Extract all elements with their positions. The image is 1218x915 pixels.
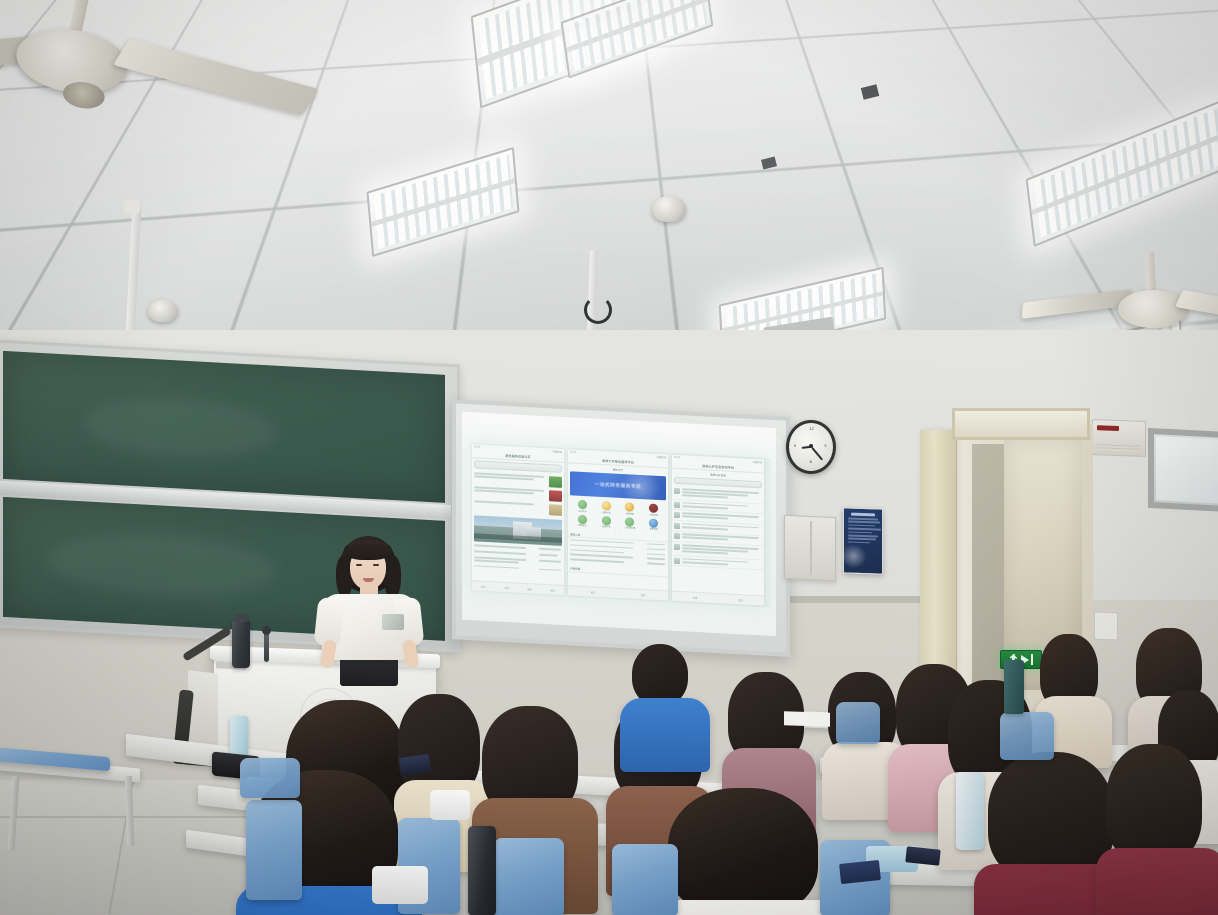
student-torso (1096, 848, 1218, 915)
tab-item[interactable]: 我的 (550, 588, 555, 592)
gooseneck-microphone (264, 632, 269, 662)
dome-camera-icon (148, 300, 178, 322)
air-conditioner (1092, 419, 1146, 457)
service-icon-cell[interactable]: 企业开办 (571, 500, 594, 514)
tissue-pack (372, 866, 428, 904)
thumbnail-image (549, 504, 562, 516)
service-icon-cell[interactable]: 资质审批 (619, 502, 642, 516)
wall-cabinet[interactable] (784, 515, 836, 581)
student-hair (988, 752, 1114, 882)
presenter-bangs (344, 540, 392, 560)
projection-screen[interactable]: 10:24 中国移动 政务服务信息公开 (452, 399, 790, 657)
tab-item[interactable]: 目录 (693, 595, 698, 599)
microphone-mount (124, 200, 140, 214)
bottom-tab-bar[interactable]: 首页 办事 服务 我的 (472, 580, 564, 595)
bottom-tab-bar[interactable]: 目录 更多 (672, 591, 764, 606)
service-icon (625, 517, 634, 526)
classroom-photo: 10:24 中国移动 政务服务信息公开 (0, 0, 1218, 915)
service-icon (602, 501, 611, 510)
chair (494, 838, 564, 915)
service-icon-cell[interactable]: 证照办理 (595, 501, 618, 515)
chair (240, 758, 300, 798)
document-icon (674, 488, 680, 494)
student-hair (1106, 744, 1202, 864)
service-icon-cell[interactable]: 更多服务 (642, 518, 665, 532)
document-icon (674, 512, 680, 518)
dome-camera-icon (652, 196, 686, 222)
service-icon (649, 504, 658, 513)
document-icon (674, 533, 680, 539)
service-icon (602, 516, 611, 525)
service-icon-label: 印章刻制 (649, 513, 657, 516)
service-icon-label: 社保参保 (602, 525, 610, 528)
service-icon (578, 500, 587, 509)
cable-hook-icon (584, 296, 612, 324)
student-torso (620, 698, 710, 772)
chair (246, 800, 302, 900)
chalkboard-panel-top (3, 351, 445, 503)
tab-item[interactable]: 服务 (527, 587, 532, 591)
document-icon (674, 522, 680, 528)
chair (612, 844, 678, 915)
light-switch-plate[interactable] (1094, 612, 1118, 641)
student-torso (650, 900, 840, 915)
document-icon (674, 557, 680, 563)
status-time: 10:24 (674, 456, 680, 459)
transom-window (952, 408, 1090, 440)
clock-minute-hand (811, 446, 823, 460)
hero-banner-image (474, 515, 562, 546)
promo-banner[interactable]: 一站式政务服务专区 (570, 471, 666, 500)
status-time: 10:24 (570, 450, 576, 453)
service-icon-cell[interactable]: 社保参保 (595, 515, 618, 529)
water-bottle (1004, 660, 1024, 714)
service-icon-label: 企业开办 (578, 510, 586, 513)
service-icon-cell[interactable]: 税务登记 (571, 514, 594, 528)
notebook (839, 860, 881, 884)
bottle-cap (234, 614, 248, 622)
presenter (316, 536, 420, 680)
thumbnail-image (549, 490, 562, 502)
document-icon (674, 544, 680, 550)
water-bottle (956, 772, 984, 850)
thumbnail-image (549, 476, 562, 488)
projected-panel-right: 10:24 中国移动 政务公开信息查询平台 信息公开目录 (672, 455, 764, 606)
service-icon-label: 税务登记 (578, 524, 586, 527)
status-carrier: 中国移动 (552, 449, 562, 454)
chair (1000, 712, 1054, 760)
thermos-bottle (468, 826, 496, 915)
service-icon-label: 公积金办理 (625, 527, 635, 531)
thermos-bottle (232, 620, 250, 668)
projected-image: 10:24 中国移动 政务服务信息公开 (468, 442, 770, 608)
service-icon (649, 518, 658, 527)
status-time: 10:24 (474, 445, 480, 448)
status-carrier: 中国移动 (656, 454, 666, 459)
tissue-pack (430, 790, 470, 820)
paper-sheet (784, 711, 830, 727)
notice-board (843, 507, 883, 574)
tab-item[interactable]: 我的 (641, 593, 646, 597)
service-icon-label: 资质审批 (626, 512, 634, 515)
high-window (1148, 428, 1218, 512)
tab-item[interactable]: 首页 (481, 584, 486, 588)
student-hair (668, 788, 818, 915)
service-icon (625, 502, 634, 511)
wall-clock: 12 3 6 9 (786, 420, 836, 474)
service-icon-label: 证照办理 (602, 511, 610, 514)
tab-item[interactable]: 办事 (504, 585, 509, 589)
projected-panel-left: 10:24 中国移动 政务服务信息公开 (472, 444, 564, 595)
document-icon (674, 501, 680, 507)
service-icon-cell[interactable]: 印章刻制 (642, 503, 665, 517)
microphone-head-icon (262, 626, 271, 635)
panel-list (472, 543, 564, 577)
student-head (632, 644, 688, 706)
service-icon-cell[interactable]: 公积金办理 (619, 516, 642, 530)
smartphone (905, 846, 940, 865)
status-carrier: 中国移动 (752, 459, 762, 464)
tab-item[interactable]: 更多 (739, 598, 744, 602)
ceiling-fan-motor (1118, 290, 1188, 328)
service-icon-label: 更多服务 (649, 528, 657, 531)
service-icon (578, 514, 587, 523)
tab-item[interactable]: 首页 (591, 590, 596, 594)
projected-panel-middle: 10:24 中国移动 政务大厅综合服务平台 服务大厅 一站式政务服务专区 企业开… (568, 449, 668, 600)
chair (836, 702, 880, 744)
shirt-graphic (382, 614, 404, 630)
